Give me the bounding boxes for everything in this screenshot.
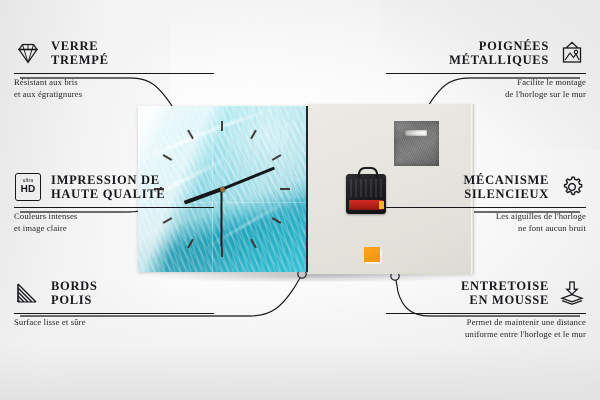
callout-desc-line2: et aux égratignures (14, 89, 214, 101)
callout-header: BORDS POLIS (14, 276, 214, 310)
callout-title-line2: MÉTALLIQUES (449, 53, 549, 67)
callout-desc-line1: Résistant aux bris (14, 77, 214, 89)
clock-tick-7 (187, 239, 194, 249)
callout-title: POIGNÉES MÉTALLIQUES (449, 39, 549, 67)
callout-title-line1: MÉCANISME (464, 173, 549, 187)
callout-title: BORDS POLIS (51, 279, 98, 307)
callout-header: ultra HD IMPRESSION DE HAUTE QUALITÉ (14, 170, 214, 204)
callout-title-line2: TREMPÉ (51, 53, 109, 67)
callout-desc-line1: Les aiguilles de l'horloge (386, 211, 586, 223)
battery-positive-terminal (379, 201, 384, 209)
callout-description: Permet de maintenir une distance uniform… (386, 317, 586, 341)
callout-title-line1: VERRE (51, 39, 109, 53)
product-feature-infographic: VERRE TREMPÉ Résistant aux bris et aux é… (0, 0, 600, 400)
callout-desc-line2: de l'horloge sur le mur (386, 89, 586, 101)
callout-description: Couleurs intenses et image claire (14, 211, 214, 235)
callout-title: MÉCANISME SILENCIEUX (464, 173, 549, 201)
callout-divider (386, 207, 586, 208)
callout-bords-polis: BORDS POLIS Surface lisse et sûre (14, 276, 214, 329)
callout-title: VERRE TREMPÉ (51, 39, 109, 67)
callout-entretoise-en-mousse: ENTRETOISE EN MOUSSE Permet de maintenir… (386, 276, 586, 341)
callout-verre-trempe: VERRE TREMPÉ Résistant aux bris et aux é… (14, 36, 214, 101)
callout-title-line2: POLIS (51, 293, 98, 307)
callout-mecanisme-silencieux: MÉCANISME SILENCIEUX Les aiguilles de l'… (386, 170, 586, 235)
callout-desc-line1: Facilite le montage (386, 77, 586, 89)
callout-title: ENTRETOISE EN MOUSSE (461, 279, 549, 307)
polished-edge-lines-icon (14, 279, 42, 307)
callout-divider (14, 207, 214, 208)
mechanism-hanging-loop (358, 167, 378, 178)
hanging-picture-frame-icon (558, 39, 586, 67)
clock-tick-3 (280, 188, 290, 190)
callout-title-line1: IMPRESSION DE (51, 173, 165, 187)
clock-second-hand (221, 189, 223, 247)
callout-poignees-metalliques: POIGNÉES MÉTALLIQUES Facilite le montage… (386, 36, 586, 101)
callout-description: Surface lisse et sûre (14, 317, 214, 329)
clock-tick-2 (272, 154, 282, 161)
callout-divider (386, 313, 586, 314)
ultra-hd-badge-icon: ultra HD (14, 173, 42, 201)
callout-title-line2: SILENCIEUX (464, 187, 549, 201)
clock-tick-1 (250, 130, 257, 140)
callout-header: VERRE TREMPÉ (14, 36, 214, 70)
diamond-icon (14, 39, 42, 67)
clock-tick-5 (250, 239, 257, 249)
callout-desc-line1: Couleurs intenses (14, 211, 214, 223)
clock-center-hub (220, 187, 225, 192)
callout-divider (386, 73, 586, 74)
arrow-down-onto-layers-icon (558, 279, 586, 307)
clock-tick-6 (221, 247, 223, 257)
callout-header: MÉCANISME SILENCIEUX (386, 170, 586, 204)
clock-tick-12 (221, 121, 223, 131)
callout-desc-line1: Surface lisse et sûre (14, 317, 214, 329)
callout-header: POIGNÉES MÉTALLIQUES (386, 36, 586, 70)
callout-title-line1: BORDS (51, 279, 98, 293)
mechanism-housing-detail (350, 179, 382, 197)
callout-desc-line2: et image claire (14, 223, 214, 235)
callout-title: IMPRESSION DE HAUTE QUALITÉ (51, 173, 165, 201)
callout-description: Résistant aux bris et aux égratignures (14, 77, 214, 101)
callout-title-line2: EN MOUSSE (461, 293, 549, 307)
callout-divider (14, 73, 214, 74)
callout-desc-line2: uniforme entre l'horloge et le mur (386, 329, 586, 341)
callout-title-line1: POIGNÉES (449, 39, 549, 53)
battery (349, 200, 383, 210)
clock-tick-4 (272, 217, 282, 224)
clock-tick-10 (163, 154, 173, 161)
foam-spacer (364, 247, 380, 262)
callout-title-line1: ENTRETOISE (461, 279, 549, 293)
metal-hanging-bracket (394, 121, 439, 166)
ultra-hd-badge-big-text: HD (21, 185, 36, 195)
clock-mechanism-module (346, 174, 386, 214)
callout-header: ENTRETOISE EN MOUSSE (386, 276, 586, 310)
callout-description: Facilite le montage de l'horloge sur le … (386, 77, 586, 101)
gear-icon (558, 173, 586, 201)
callout-desc-line2: ne font aucun bruit (386, 223, 586, 235)
callout-desc-line1: Permet de maintenir une distance (386, 317, 586, 329)
callout-divider (14, 313, 214, 314)
clock-minute-hand (221, 167, 274, 191)
callout-impression-haute-qualite: ultra HD IMPRESSION DE HAUTE QUALITÉ Cou… (14, 170, 214, 235)
clock-tick-11 (187, 130, 194, 140)
bracket-slot (405, 130, 427, 136)
callout-description: Les aiguilles de l'horloge ne font aucun… (386, 211, 586, 235)
callout-title-line2: HAUTE QUALITÉ (51, 187, 165, 201)
